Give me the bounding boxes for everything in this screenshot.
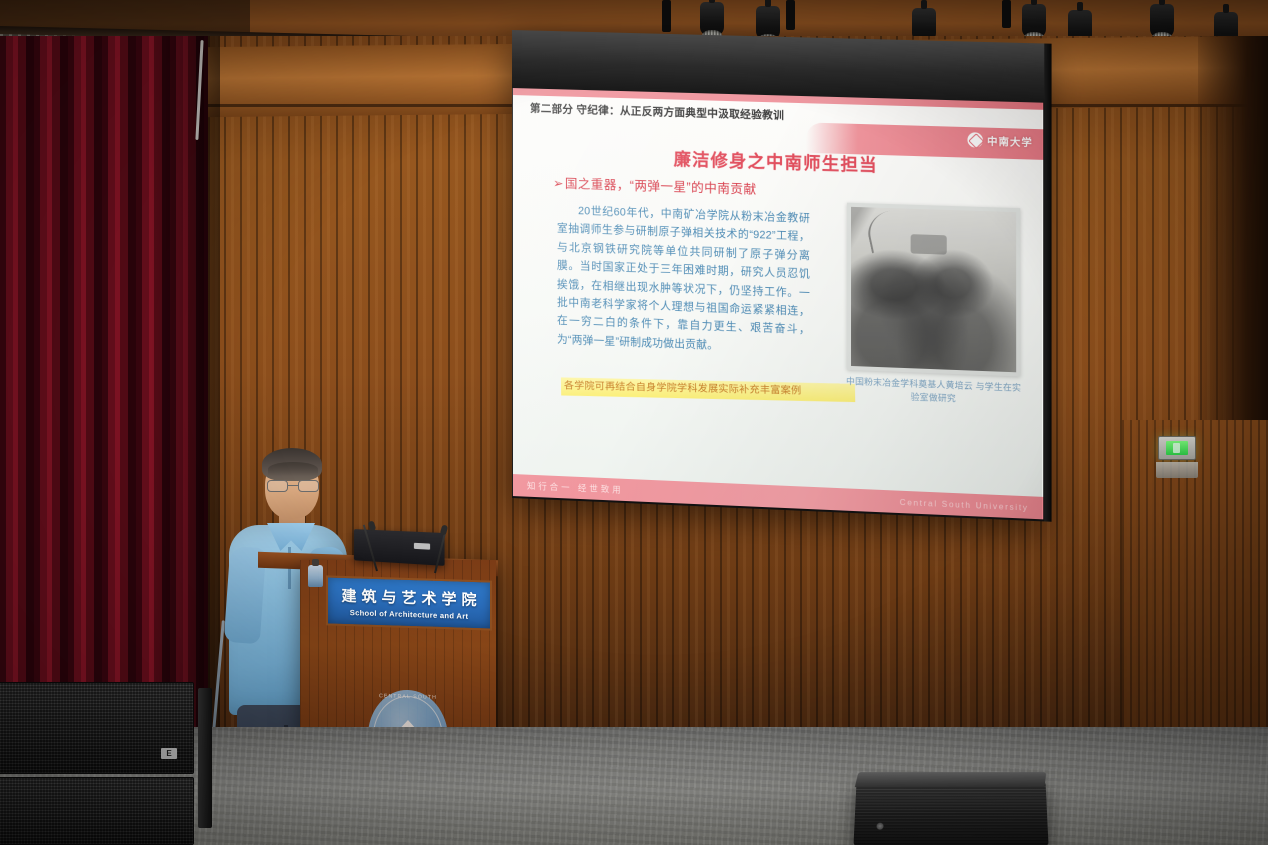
water-bottle [308, 565, 323, 587]
pa-speaker-stack: E [0, 682, 202, 845]
stage-light-icon [756, 6, 780, 40]
stage-light-icon [1150, 4, 1174, 38]
slide-photo-frame [847, 203, 1020, 377]
lecture-hall-scene: 中南大学 第二部分 守纪律：从正反两方面典型中汲取经验教训 廉洁修身之中南师生担… [0, 0, 1268, 845]
glasses-icon [267, 480, 319, 492]
podium-sign-english: School of Architecture and Art [350, 608, 469, 621]
slide-highlight-note: 各学院可再结合自身学院学科发展实际补充丰富案例 [561, 377, 855, 401]
light-mount-bar [1002, 0, 1011, 28]
screen-edge [1044, 43, 1051, 521]
slide-section-header: 第二部分 守纪律：从正反两方面典型中汲取经验教训 [530, 101, 784, 123]
bullet-arrow-icon: ➢ [553, 176, 564, 190]
emergency-exit-icon [1158, 436, 1196, 460]
light-mount-bar [662, 0, 671, 32]
slide-footer-motto: 知行合一 经世致用 [527, 480, 624, 496]
speaker-brand-badge: E [161, 748, 177, 759]
exit-sign-glow [1166, 441, 1188, 455]
stage-light-icon [1022, 4, 1046, 38]
stage-light-icon [700, 2, 724, 36]
csu-logo-text: 中南大学 [987, 133, 1033, 150]
monitor-fastener [876, 823, 883, 830]
stage-monitor-wedge [853, 781, 1048, 845]
slide-bullet-text: 国之重器，“两弹一星”的中南贡献 [565, 177, 757, 197]
speaker-rigging-frame [198, 688, 212, 828]
presentation-slide: 中南大学 第二部分 守纪律：从正反两方面典型中汲取经验教训 廉洁修身之中南师生担… [513, 88, 1043, 519]
light-mount-bar [786, 0, 795, 30]
wall-fixture-box [1156, 462, 1198, 478]
pa-speaker-cabinet [0, 777, 194, 845]
pa-speaker-cabinet: E [0, 682, 194, 774]
curtain-shadow [150, 36, 220, 736]
presenter-hair [262, 448, 322, 481]
slide-body-text: 20世纪60年代，中南矿冶学院从粉末冶金教研室抽调师生参与研制原子弹相关技术的“… [557, 201, 810, 358]
laptop-badge [414, 543, 430, 550]
csu-emblem-icon [967, 132, 983, 148]
slide-footer-university: Central South University [900, 497, 1029, 512]
podium-sign: 建筑与艺术学院 School of Architecture and Art [326, 575, 492, 630]
projection-screen: 中南大学 第二部分 守纪律：从正反两方面典型中汲取经验教训 廉洁修身之中南师生担… [512, 30, 1044, 521]
historical-photo [851, 207, 1016, 372]
podium-sign-chinese: 建筑与艺术学院 [341, 585, 481, 610]
slide-photo-caption: 中国粉末冶金学科奠基人黄培云 与学生在实验室做研究 [843, 375, 1025, 408]
slide-bullet-line: ➢国之重器，“两弹一星”的中南贡献 [553, 172, 757, 197]
csu-logo: 中南大学 [967, 132, 1032, 149]
